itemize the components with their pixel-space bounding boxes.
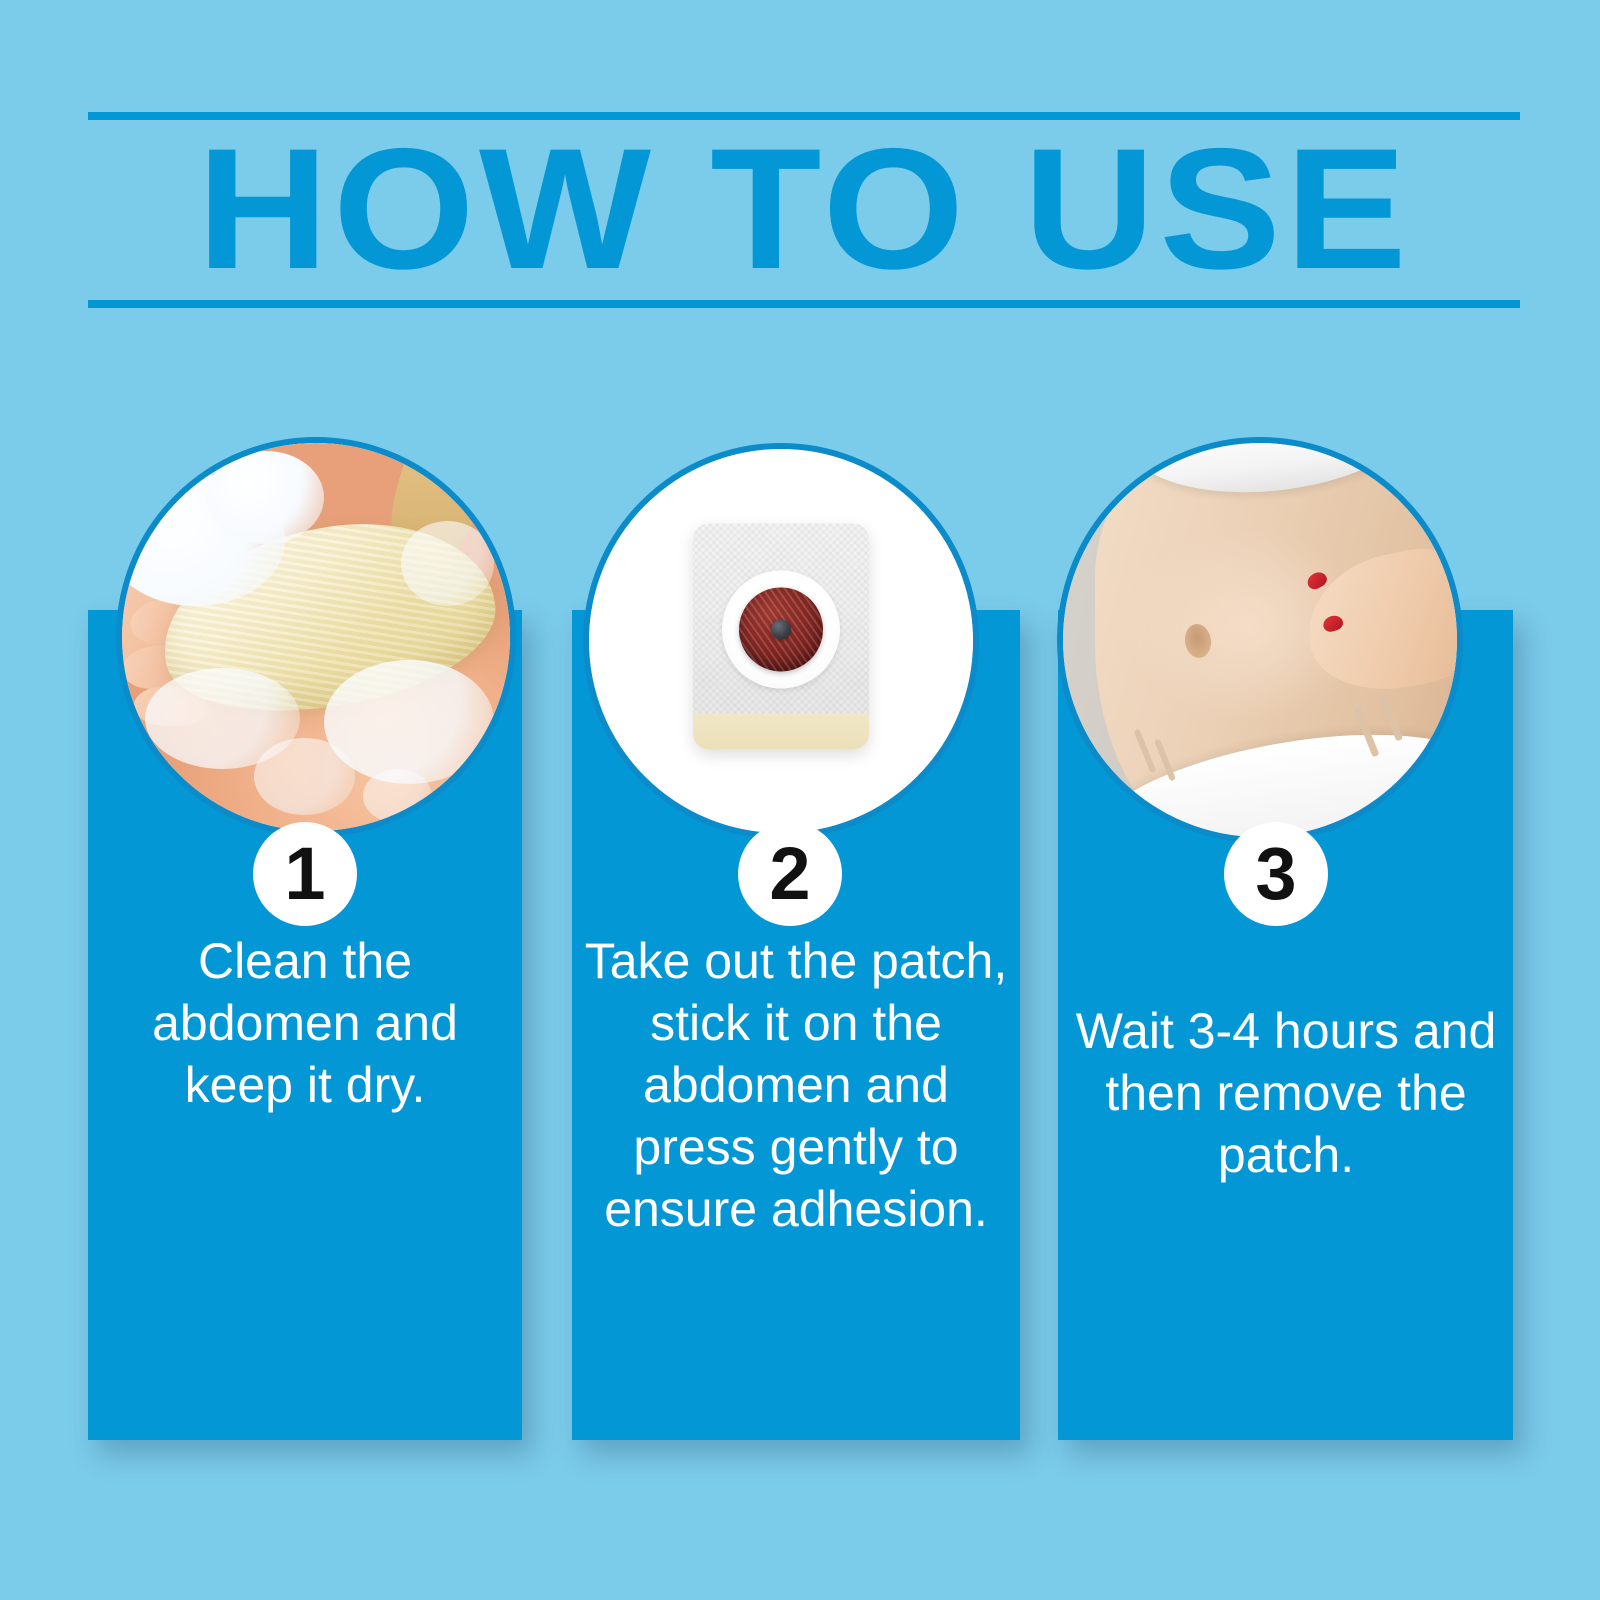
step-number-badge-3: 3 xyxy=(1224,822,1328,926)
foam-icon xyxy=(363,769,433,823)
step-image-3 xyxy=(1057,437,1463,843)
patch-center-nub-icon xyxy=(771,620,791,640)
slimming-patch-icon xyxy=(693,523,869,749)
step-image-1 xyxy=(116,437,516,837)
step-number-badge-2: 2 xyxy=(738,822,842,926)
foam-icon xyxy=(254,738,355,816)
step-caption-3: Wait 3-4 hours and then remove the patch… xyxy=(1066,1000,1506,1186)
step-image-3-content xyxy=(1063,443,1457,837)
foam-icon xyxy=(401,521,494,606)
step-image-2-content xyxy=(589,449,973,833)
foam-icon xyxy=(207,451,323,544)
step-number-badge-1: 1 xyxy=(253,822,357,926)
steps-container: 1 2 3 Clean the abdomen and keep it dry.… xyxy=(0,0,1600,1600)
step-image-2 xyxy=(583,443,979,839)
step-caption-1: Clean the abdomen and keep it dry. xyxy=(98,930,512,1116)
patch-adhesive-strip-icon xyxy=(693,713,869,749)
step-image-1-content xyxy=(122,443,510,831)
step-caption-2: Take out the patch, stick it on the abdo… xyxy=(578,930,1014,1240)
